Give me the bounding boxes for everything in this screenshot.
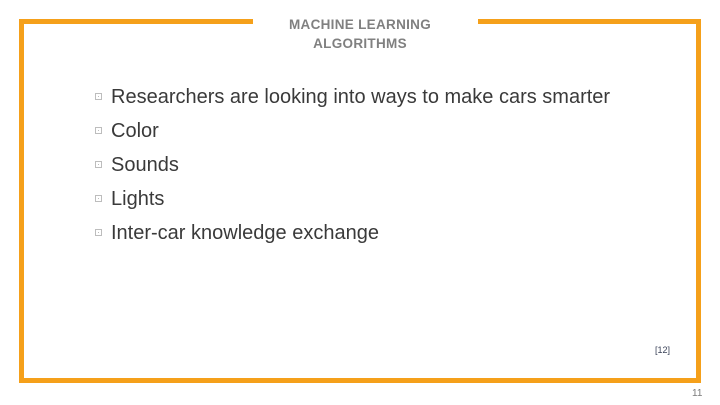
list-item: Lights [95,186,655,212]
slide-border-right [696,19,701,383]
slide-canvas: MACHINE LEARNING ALGORITHMS Researchers … [0,0,720,405]
slide-border-bottom [19,378,701,383]
slide-border-left [19,19,24,383]
list-item-label: Color [111,118,655,144]
slide-title-line-2: ALGORITHMS [200,34,520,53]
citation-reference: [12] [655,345,670,355]
list-item-label: Sounds [111,152,655,178]
list-item-label: Researchers are looking into ways to mak… [111,84,655,110]
list-item-label: Inter-car knowledge exchange [111,220,655,246]
bullet-list: Researchers are looking into ways to mak… [95,84,655,254]
square-bullet-icon [95,229,102,236]
list-item: Color [95,118,655,144]
list-item: Inter-car knowledge exchange [95,220,655,246]
page-number: 11 [692,388,702,399]
list-item: Sounds [95,152,655,178]
list-item: Researchers are looking into ways to mak… [95,84,655,110]
square-bullet-icon [95,93,102,100]
list-item-label: Lights [111,186,655,212]
slide-title: MACHINE LEARNING ALGORITHMS [200,15,520,53]
slide-title-line-1: MACHINE LEARNING [200,15,520,34]
square-bullet-icon [95,195,102,202]
square-bullet-icon [95,127,102,134]
square-bullet-icon [95,161,102,168]
